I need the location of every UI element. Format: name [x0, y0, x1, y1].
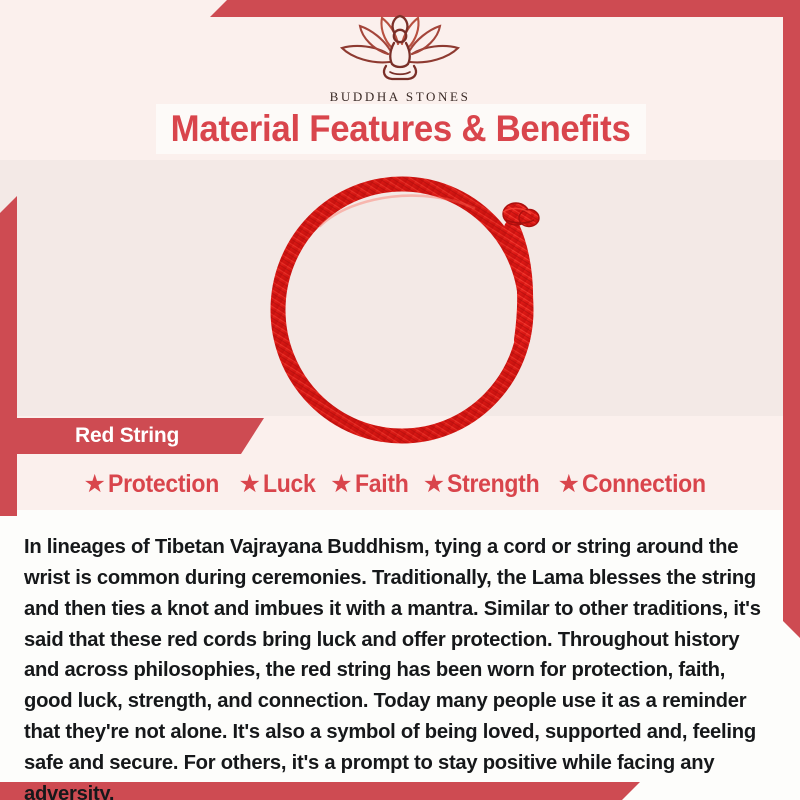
- benefit-label: Strength: [447, 470, 539, 499]
- description-paragraph: In lineages of Tibetan Vajrayana Buddhis…: [24, 532, 776, 800]
- benefit-item: ★ Protection: [84, 470, 229, 499]
- product-label-banner: Red String: [17, 418, 264, 454]
- benefit-label: Protection: [108, 470, 219, 499]
- infographic-page: BUDDHA STONES Material Features & Benefi…: [0, 0, 800, 800]
- benefit-label: Luck: [263, 470, 316, 499]
- product-image-red-string-bracelet: [250, 168, 570, 448]
- star-icon: ★: [558, 472, 580, 497]
- benefit-label: Connection: [582, 470, 706, 499]
- star-icon: ★: [330, 472, 352, 497]
- benefit-item: ★ Luck: [239, 470, 321, 499]
- benefit-item: ★ Connection: [558, 470, 717, 499]
- brand-name: BUDDHA STONES: [0, 89, 800, 105]
- benefits-row: ★ Protection ★ Luck ★ Faith ★ Strength ★…: [0, 464, 800, 504]
- lotus-meditation-icon: [332, 14, 468, 86]
- star-icon: ★: [423, 472, 445, 497]
- brand-logo: BUDDHA STONES: [0, 14, 800, 105]
- benefit-item: ★ Strength: [423, 470, 548, 499]
- benefit-label: Faith: [355, 470, 409, 499]
- product-label: Red String: [75, 424, 179, 448]
- page-title: Material Features & Benefits: [171, 108, 631, 150]
- benefit-item: ★ Faith: [330, 470, 413, 499]
- page-title-band: Material Features & Benefits: [156, 104, 646, 154]
- star-icon: ★: [239, 472, 261, 497]
- star-icon: ★: [84, 472, 106, 497]
